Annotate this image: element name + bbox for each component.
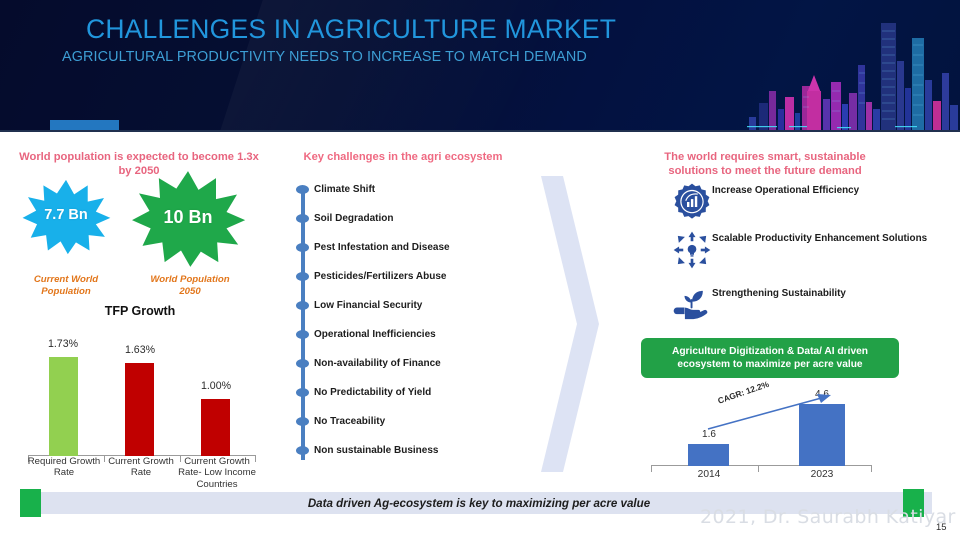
- page-title: CHALLENGES IN AGRICULTURE MARKET: [86, 14, 616, 45]
- tfp-bar-0: [49, 357, 78, 456]
- solution-label-1: Increase Operational Efficiency: [712, 184, 859, 197]
- value-chart-tick: [758, 466, 759, 472]
- gear-bar-chart-icon: [672, 182, 712, 222]
- slide-header: CHALLENGES IN AGRICULTURE MARKET AGRICUL…: [0, 0, 960, 130]
- challenge-bullet-icon: [296, 272, 309, 281]
- value-bar-2014: [688, 444, 729, 466]
- challenge-item: Pesticides/Fertilizers Abuse: [314, 271, 446, 282]
- tfp-bar-1: [125, 363, 154, 456]
- agriculture-digitization-banner: Agriculture Digitization & Data/ AI driv…: [641, 338, 899, 378]
- challenge-bullet-icon: [296, 330, 309, 339]
- watermark: 2021, Dr. Saurabh Katiyar: [700, 506, 956, 528]
- challenge-item: Soil Degradation: [314, 213, 393, 224]
- burst-current-population: 7.7 Bn: [20, 179, 112, 255]
- challenge-bullet-icon: [296, 185, 309, 194]
- tfp-value-2: 1.00%: [181, 380, 251, 392]
- challenge-bullet-icon: [296, 417, 309, 426]
- hand-holding-plant-icon: [672, 280, 712, 320]
- burst-future-population: 10 Bn: [118, 170, 258, 268]
- solution-label-2: Scalable Productivity Enhancement Soluti…: [712, 232, 927, 245]
- banner-text: Agriculture Digitization & Data/ AI driv…: [641, 345, 899, 372]
- value-chart-tick: [871, 466, 872, 472]
- tfp-category-0: Required Growth Rate: [26, 456, 102, 479]
- value-chart-tick: [651, 466, 652, 472]
- challenge-bullet-icon: [296, 301, 309, 310]
- slide: CHALLENGES IN AGRICULTURE MARKET AGRICUL…: [0, 0, 960, 540]
- tfp-category-2: Current Growth Rate- Low Income Countrie…: [178, 456, 256, 490]
- challenge-item: No Predictability of Yield: [314, 387, 431, 398]
- burst-caption-2: World Population 2050: [140, 274, 240, 298]
- burst-value-2: 10 Bn: [118, 207, 258, 228]
- city-skyline-icon: [745, 5, 960, 130]
- page-subtitle: AGRICULTURAL PRODUCTIVITY NEEDS TO INCRE…: [62, 49, 587, 65]
- challenge-bullet-icon: [296, 214, 309, 223]
- header-accent-bar: [50, 120, 119, 130]
- tfp-chart-title: TFP Growth: [60, 304, 220, 318]
- value-category-2014: 2014: [674, 469, 744, 480]
- tfp-value-0: 1.73%: [28, 338, 98, 350]
- solutions-heading: The world requires smart, sustainable so…: [640, 150, 890, 178]
- challenge-item: Non sustainable Business: [314, 445, 438, 456]
- tfp-bar-2: [201, 399, 230, 456]
- challenge-bullet-icon: [296, 243, 309, 252]
- challenge-bullet-icon: [296, 359, 309, 368]
- challenge-bullet-icon: [296, 446, 309, 455]
- tfp-category-1: Current Growth Rate: [102, 456, 180, 479]
- footer-square-left: [20, 489, 41, 517]
- solution-label-3: Strengthening Sustainability: [712, 287, 846, 300]
- burst-caption-1: Current World Population: [16, 274, 116, 298]
- challenge-item: Pest Infestation and Disease: [314, 242, 450, 253]
- challenge-item: Climate Shift: [314, 184, 375, 195]
- challenge-item: No Traceability: [314, 416, 385, 427]
- challenges-heading: Key challenges in the agri ecosystem: [288, 150, 518, 164]
- per-acre-value-chart: 1.6 4.6 2014 2023: [645, 388, 880, 488]
- lightbulb-expand-arrows-icon: [672, 230, 712, 270]
- value-category-2023: 2023: [787, 469, 857, 480]
- challenge-item: Low Financial Security: [314, 300, 422, 311]
- challenge-item: Non-availability of Finance: [314, 358, 441, 369]
- challenge-bullet-icon: [296, 388, 309, 397]
- page-number: 15: [936, 521, 946, 532]
- tfp-value-1: 1.63%: [105, 344, 175, 356]
- challenge-item: Operational Inefficiencies: [314, 329, 436, 340]
- tfp-growth-chart: 1.73% 1.63% 1.00% Required Growth Rate C…: [18, 324, 268, 482]
- chevron-right-arrow-icon: [541, 176, 611, 472]
- burst-value-1: 7.7 Bn: [20, 207, 112, 223]
